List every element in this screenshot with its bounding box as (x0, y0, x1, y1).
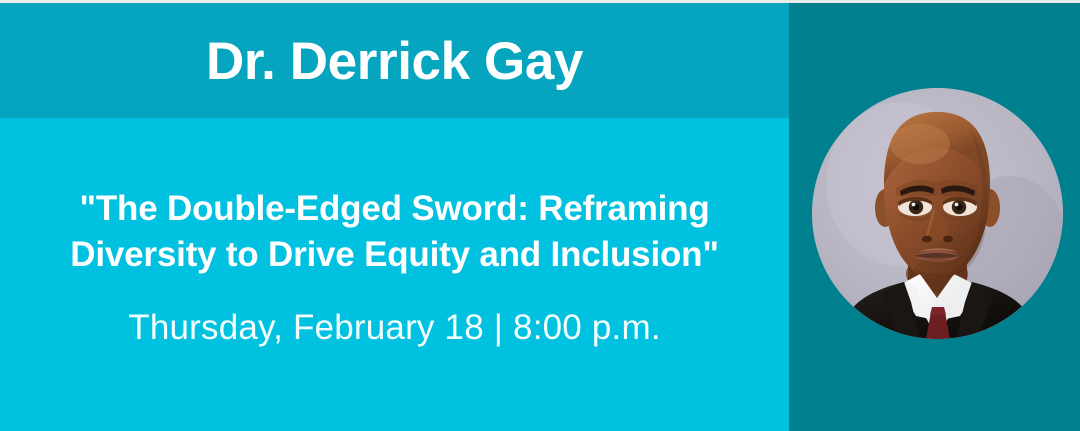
body-band: "The Double-Edged Sword: Reframing Diver… (0, 118, 789, 431)
top-hairline-divider (0, 0, 1080, 3)
talk-title: "The Double-Edged Sword: Reframing Diver… (0, 118, 789, 278)
speaker-name: Dr. Derrick Gay (206, 31, 583, 88)
text-column: Dr. Derrick Gay "The Double-Edged Sword:… (0, 0, 789, 431)
speaker-announcement-banner: Dr. Derrick Gay "The Double-Edged Sword:… (0, 0, 1080, 431)
speaker-portrait-image (812, 88, 1063, 339)
portrait-column (789, 0, 1080, 431)
header-band: Dr. Derrick Gay (0, 0, 789, 118)
talk-title-line-1: "The Double-Edged Sword: Reframing (20, 186, 769, 232)
speaker-portrait (812, 88, 1063, 339)
talk-title-line-2: Diversity to Drive Equity and Inclusion" (20, 232, 769, 278)
event-datetime: Thursday, February 18 | 8:00 p.m. (128, 278, 661, 345)
